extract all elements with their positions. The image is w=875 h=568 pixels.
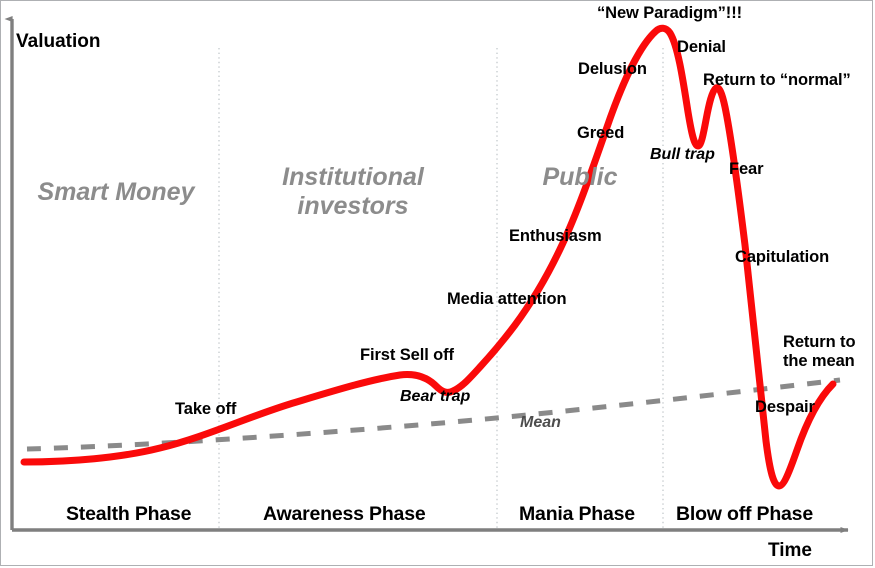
annotation-capitulation: Capitulation <box>735 248 829 267</box>
y-axis-label: Valuation <box>16 31 100 53</box>
phase-label-stealth: Stealth Phase <box>66 503 191 525</box>
annotation-return-to-mean-line1: Return to <box>783 333 855 352</box>
annotation-new-paradigm: “New Paradigm”!!! <box>597 4 742 23</box>
phase-label-awareness: Awareness Phase <box>263 503 426 525</box>
annotation-return-to-mean-line2: the mean <box>783 352 855 371</box>
actor-band-public: Public <box>535 163 625 192</box>
annotation-enthusiasm: Enthusiasm <box>509 227 602 246</box>
actor-band-institutional-line2: investors <box>258 192 448 221</box>
x-axis-label: Time <box>768 540 812 562</box>
annotation-denial: Denial <box>677 38 726 57</box>
annotation-take-off: Take off <box>175 400 236 419</box>
valuation-curve <box>24 28 833 486</box>
actor-band-smart-money: Smart Money <box>36 178 196 207</box>
annotation-media-attention: Media attention <box>447 290 567 309</box>
annotation-despair: Despair <box>755 398 815 417</box>
bubble-phases-chart: Valuation Time Smart Money Institutional… <box>0 0 875 568</box>
annotation-bull-trap: Bull trap <box>650 146 715 164</box>
phase-label-mania: Mania Phase <box>519 503 635 525</box>
annotation-greed: Greed <box>577 124 624 143</box>
annotation-bear-trap: Bear trap <box>400 388 470 406</box>
annotation-fear: Fear <box>729 160 763 179</box>
annotation-mean: Mean <box>520 414 561 432</box>
actor-band-institutional-line1: Institutional <box>258 163 448 192</box>
annotation-delusion: Delusion <box>578 60 647 79</box>
annotation-return-to-normal: Return to “normal” <box>703 71 851 90</box>
phase-label-blowoff: Blow off Phase <box>676 503 813 525</box>
annotation-first-sell-off: First Sell off <box>360 346 454 365</box>
